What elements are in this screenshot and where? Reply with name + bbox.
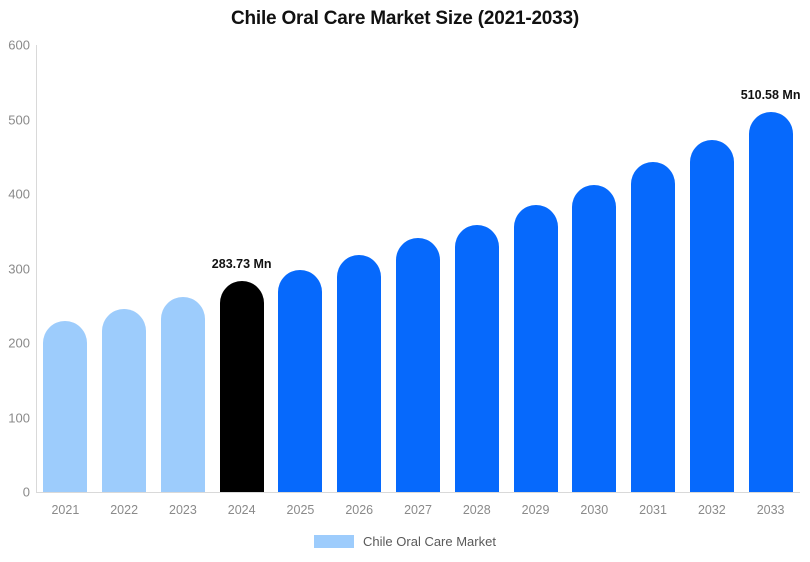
bar-slot [455, 45, 499, 492]
y-tick-label: 100 [0, 410, 30, 425]
bar-2021[interactable] [43, 321, 87, 492]
bar-slot: 510.58 Mn [749, 45, 793, 492]
chart-legend: Chile Oral Care Market [0, 534, 810, 549]
bar-2031[interactable] [631, 162, 675, 492]
legend-label: Chile Oral Care Market [363, 534, 496, 549]
y-tick-label: 0 [0, 485, 30, 500]
bars-layer: 283.73 Mn510.58 Mn [36, 45, 800, 492]
bar-slot [514, 45, 558, 492]
bar-2023[interactable] [161, 297, 205, 492]
x-tick-label-2029: 2029 [522, 503, 550, 517]
y-axis-tick-labels: 0100200300400500600 [0, 45, 30, 492]
bar-2025[interactable] [278, 270, 322, 492]
bar-slot [690, 45, 734, 492]
bar-2032[interactable] [690, 140, 734, 492]
bar-slot [396, 45, 440, 492]
bar-2026[interactable] [337, 255, 381, 492]
bar-2030[interactable] [572, 185, 616, 492]
bar-2022[interactable] [102, 309, 146, 492]
bar-2029[interactable] [514, 205, 558, 492]
x-tick-label-2032: 2032 [698, 503, 726, 517]
y-tick-label: 500 [0, 112, 30, 127]
y-tick-label: 400 [0, 187, 30, 202]
legend-swatch-icon [314, 535, 354, 548]
x-tick-label-2028: 2028 [463, 503, 491, 517]
x-axis-tick-labels: 2021202220232024202520262027202820292030… [36, 500, 800, 522]
bar-slot [43, 45, 87, 492]
x-tick-label-2027: 2027 [404, 503, 432, 517]
bar-slot [337, 45, 381, 492]
y-tick-label: 200 [0, 336, 30, 351]
bar-slot [161, 45, 205, 492]
y-tick-label: 300 [0, 261, 30, 276]
x-tick-label-2031: 2031 [639, 503, 667, 517]
bar-slot [572, 45, 616, 492]
bar-chart: Chile Oral Care Market Size (2021-2033) … [0, 0, 810, 562]
x-tick-label-2033: 2033 [757, 503, 785, 517]
bar-2028[interactable] [455, 225, 499, 492]
legend-item[interactable]: Chile Oral Care Market [314, 534, 496, 549]
x-tick-label-2021: 2021 [51, 503, 79, 517]
bar-slot [278, 45, 322, 492]
x-tick-label-2026: 2026 [345, 503, 373, 517]
x-tick-label-2025: 2025 [287, 503, 315, 517]
bar-slot [631, 45, 675, 492]
y-tick-label: 600 [0, 38, 30, 53]
bar-slot [102, 45, 146, 492]
x-tick-label-2030: 2030 [580, 503, 608, 517]
x-tick-label-2024: 2024 [228, 503, 256, 517]
bar-2024[interactable] [220, 281, 264, 492]
bar-slot: 283.73 Mn [220, 45, 264, 492]
x-axis-line [36, 492, 800, 493]
x-tick-label-2022: 2022 [110, 503, 138, 517]
bar-value-label-2033: 510.58 Mn [741, 88, 801, 102]
x-tick-label-2023: 2023 [169, 503, 197, 517]
chart-title: Chile Oral Care Market Size (2021-2033) [0, 8, 810, 30]
bar-2027[interactable] [396, 238, 440, 492]
bar-2033[interactable] [749, 112, 793, 492]
bar-value-label-2024: 283.73 Mn [212, 257, 272, 271]
